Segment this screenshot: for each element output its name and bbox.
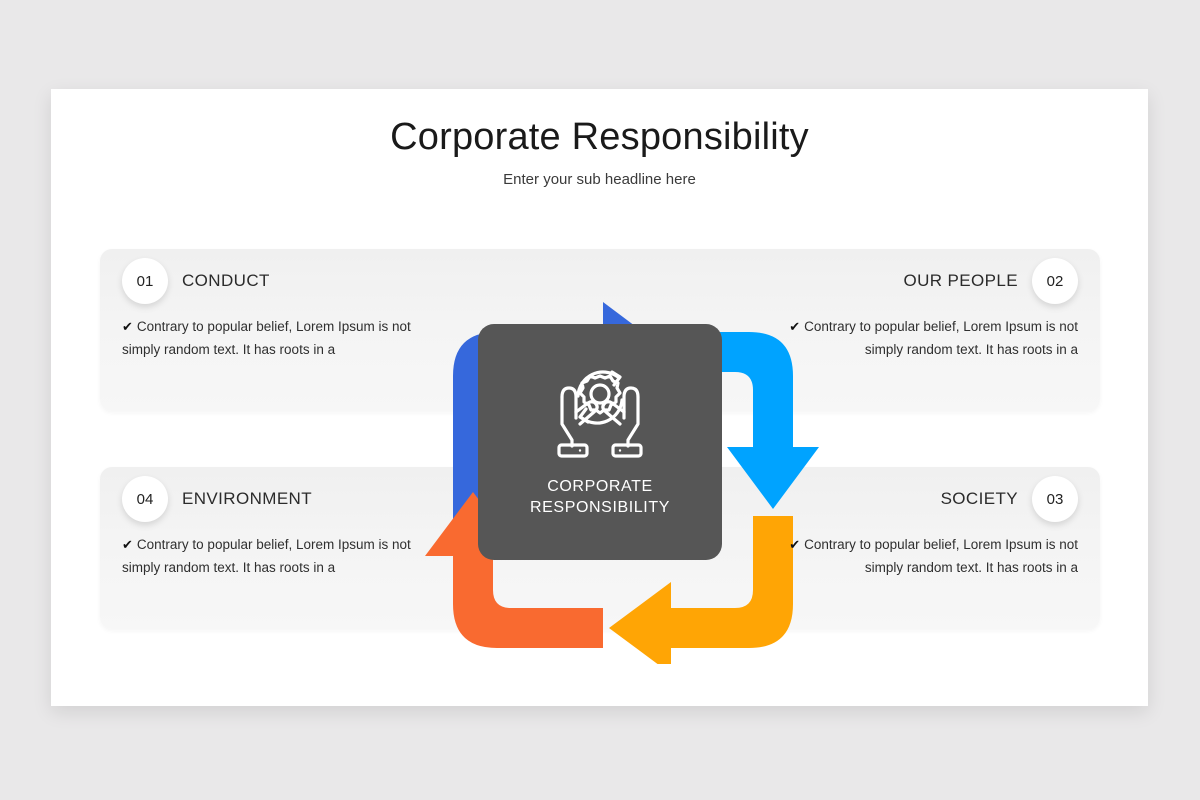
card-our-people[interactable]: OUR PEOPLE 02 ✔Contrary to popular belie… xyxy=(770,249,1100,361)
card-header: 04 ENVIRONMENT xyxy=(122,467,430,531)
card-environment[interactable]: 04 ENVIRONMENT ✔Contrary to popular beli… xyxy=(100,467,430,579)
card-title: ENVIRONMENT xyxy=(182,489,312,509)
card-header: 01 CONDUCT xyxy=(122,249,430,313)
card-conduct[interactable]: 01 CONDUCT ✔Contrary to popular belief, … xyxy=(100,249,430,361)
page-title: Corporate Responsibility xyxy=(51,116,1148,159)
card-body-text: Contrary to popular belief, Lorem Ipsum … xyxy=(122,319,411,357)
card-header: OUR PEOPLE 02 xyxy=(770,249,1078,313)
center-tile: CORPORATE RESPONSIBILITY xyxy=(478,324,722,560)
check-icon: ✔ xyxy=(122,319,137,334)
card-title: OUR PEOPLE xyxy=(903,271,1018,291)
center-label-line2: RESPONSIBILITY xyxy=(530,497,670,518)
card-title: SOCIETY xyxy=(941,489,1018,509)
card-body-text: Contrary to popular belief, Lorem Ipsum … xyxy=(804,319,1078,357)
center-tile-label: CORPORATE RESPONSIBILITY xyxy=(530,476,670,518)
card-society[interactable]: SOCIETY 03 ✔Contrary to popular belief, … xyxy=(770,467,1100,579)
card-number-badge: 01 xyxy=(122,258,168,304)
card-body: ✔Contrary to popular belief, Lorem Ipsum… xyxy=(770,531,1078,579)
slide-canvas: Corporate Responsibility Enter your sub … xyxy=(51,89,1148,706)
check-icon: ✔ xyxy=(789,319,804,334)
check-icon: ✔ xyxy=(122,537,137,552)
hands-holding-gear-icon xyxy=(540,352,660,460)
card-body-text: Contrary to popular belief, Lorem Ipsum … xyxy=(804,537,1078,575)
page-subtitle: Enter your sub headline here xyxy=(51,171,1148,188)
card-number-badge: 02 xyxy=(1032,258,1078,304)
check-icon: ✔ xyxy=(789,537,804,552)
card-number-badge: 03 xyxy=(1032,476,1078,522)
card-body: ✔Contrary to popular belief, Lorem Ipsum… xyxy=(122,531,430,579)
card-title: CONDUCT xyxy=(182,271,270,291)
card-header: SOCIETY 03 xyxy=(770,467,1078,531)
card-number-badge: 04 xyxy=(122,476,168,522)
center-label-line1: CORPORATE xyxy=(530,476,670,497)
card-body: ✔Contrary to popular belief, Lorem Ipsum… xyxy=(770,313,1078,361)
card-body: ✔Contrary to popular belief, Lorem Ipsum… xyxy=(122,313,430,361)
card-body-text: Contrary to popular belief, Lorem Ipsum … xyxy=(122,537,411,575)
